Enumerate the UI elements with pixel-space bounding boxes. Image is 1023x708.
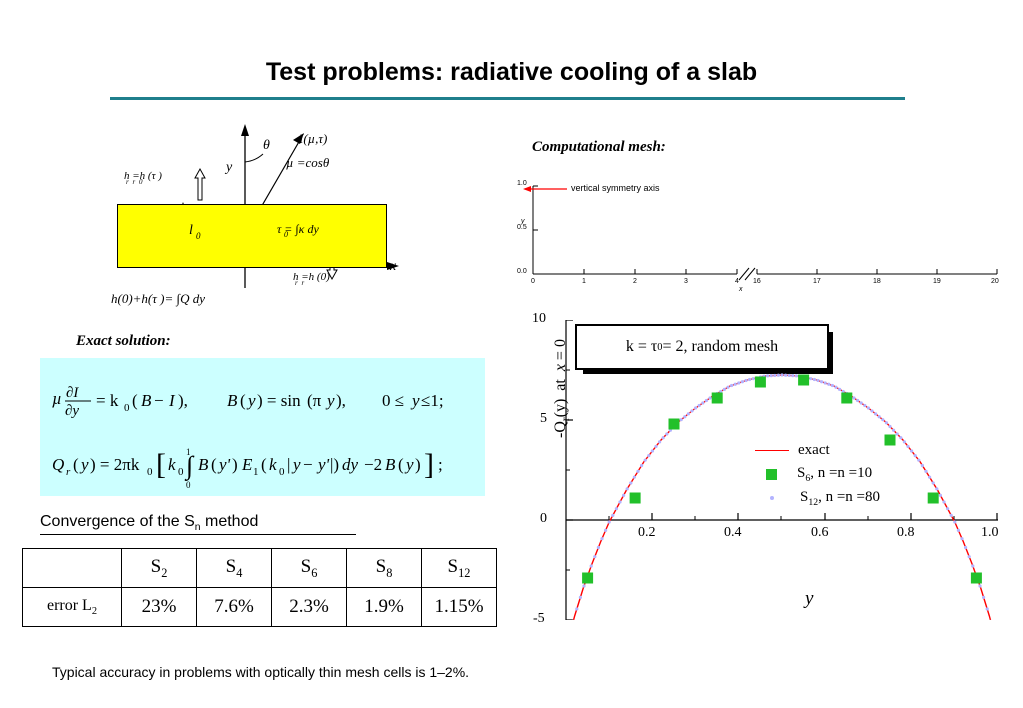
svg-text:),: ), [178,391,188,410]
svg-text:Q: Q [52,455,64,474]
mesh-xtick-7: 18 [873,278,881,285]
legend-dot-icon [770,496,774,500]
svg-text:): ) [232,455,238,474]
table-cell-error-s8: 1.9% [347,588,422,627]
legend-label-exact: exact [798,442,830,459]
table-cell-error-s2: 23% [122,588,197,627]
svg-text:|): |) [330,455,339,474]
convergence-table: S2 S4 S6 S8 S12 error L2 23% 7.6% 2.3% 1… [22,548,497,627]
svg-text:),: ), [336,391,346,410]
svg-text:y: y [404,455,414,474]
svg-text:−2: −2 [364,455,382,474]
bottom-note: Typical accuracy in problems with optica… [52,664,469,680]
chart-xtick-04: 0.4 [724,525,742,541]
col-sub-5: 12 [458,565,470,579]
svg-text:(: ( [132,391,138,410]
radiative-flux-chart: k = τ0 = 2, random mesh [505,308,1015,638]
chart-xtick-10: 1.0 [981,525,999,541]
mesh-xtick-3: 3 [684,278,688,285]
table-header-cell-s2: S2 [122,549,197,588]
convergence-heading-post: method [201,513,259,530]
title-underline-rule [110,97,905,100]
col-sub-3: 6 [311,565,317,579]
svg-text:y: y [325,391,335,410]
svg-text:k: k [168,455,176,474]
slab-bottom-equation: h(0)+h(τ )= ∫Q dy [111,291,205,307]
table-header-cell-s6: S6 [272,549,347,588]
svg-text:y: y [79,455,89,474]
legend-label-s6: S6, n =n =10 [797,465,872,484]
chart-x-axis-label: y [805,588,813,610]
exact-solution-title: Exact solution: [76,333,171,350]
chart-xtick-08: 0.8 [897,525,915,541]
svg-text:(: ( [261,455,267,474]
svg-text:−: − [154,391,164,410]
svg-text:0: 0 [124,402,130,414]
slab-body-rect [117,204,387,268]
svg-text:−: − [303,455,313,474]
svg-text:(: ( [398,455,404,474]
col-sub-4: 8 [386,565,392,579]
col-sub-2: 4 [236,565,242,579]
table-cell-error-s12: 1.15% [422,588,497,627]
equation-1-svg: µ ∂I ∂y = k 0 ( B − I ), B ( y ) = sin (… [52,378,452,418]
mesh-ytick-1: 0.5 [517,224,527,231]
chart-ytick-0: 0 [540,511,547,527]
svg-text:∂y: ∂y [65,403,79,418]
mesh-symmetry-axis-annotation: vertical symmetry axis [571,183,660,193]
svg-text:]: ] [424,448,434,481]
svg-text:y: y [291,455,301,474]
svg-text:I: I [168,391,176,410]
svg-text:0: 0 [178,466,184,478]
slab-mu-label: µ =cosθ [286,155,329,171]
chart-legend: exact S6, n =n =10 S12, n =n =80 [755,438,880,510]
slab-theta-label: θ [263,138,270,154]
convergence-heading-pre: Convergence of the S [40,513,195,530]
table-header-cell-s4: S4 [197,549,272,588]
mesh-ytick-0: 1.0 [517,180,527,187]
convergence-heading: Convergence of the Sn method [40,513,258,533]
chart-ytick-10: 10 [532,311,546,327]
mesh-xtick-1: 1 [582,278,586,285]
convergence-heading-underline [40,534,356,535]
table-header-cell-empty [23,549,122,588]
table-header-row: S2 S4 S6 S8 S12 [23,549,497,588]
row-label-sub: 2 [92,606,97,617]
legend-line-icon [755,450,789,451]
svg-text:1: 1 [253,466,259,478]
svg-text:(: ( [73,455,79,474]
svg-text:(π: (π [307,391,322,410]
table-cell-error-s6: 2.3% [272,588,347,627]
col-base-5: S [448,556,459,577]
svg-text:E: E [241,455,253,474]
table-header-cell-s12: S12 [422,549,497,588]
col-base-3: S [301,556,312,577]
col-base-4: S [376,556,387,577]
page-title: Test problems: radiative cooling of a sl… [0,58,1023,87]
computational-mesh-plot: 1.0 0.5 0.0 0 1 2 3 4 16 17 18 19 20 y x… [505,168,1005,298]
svg-text:|: | [287,455,290,474]
chart-ytick-neg5: -5 [533,611,545,627]
col-sub-1: 2 [161,565,167,579]
table-row-label: error L2 [23,588,122,627]
slab-x-axis-label: x [390,259,396,275]
svg-text:0: 0 [279,466,285,478]
svg-text:k: k [269,455,277,474]
legend-item-s6: S6, n =n =10 [755,462,880,486]
slab-h-top-subscript: r r 0 [126,178,143,186]
mesh-xtick-8: 19 [933,278,941,285]
slab-tau0-subscript: 0 [284,230,288,239]
svg-text:0: 0 [147,466,153,478]
row-label-base: error L [47,597,92,614]
chart-y-axis-label-sub: r [560,417,572,421]
mesh-xtick-6: 17 [813,278,821,285]
slab-diagram: θ y x I(µ,τ) µ =cosθ h =h (τ ) r r 0 l 0… [95,118,425,308]
slab-l0-subscript: 0 [196,231,201,241]
mesh-ytick-2: 0.0 [517,268,527,275]
mesh-title: Computational mesh: [532,139,666,156]
legend-item-exact: exact [755,438,880,462]
svg-text:B: B [198,455,209,474]
legend-s6-rest: , n =n =10 [810,465,872,481]
col-base-1: S [151,556,162,577]
legend-item-s12: S12, n =n =80 [755,486,880,510]
svg-text:∂I: ∂I [66,385,79,401]
chart-plot-area: -Qr(y) at x = 0 y 10 5 0 -5 0.2 0.4 0.6 … [560,320,998,620]
svg-text:y: y [246,391,256,410]
legend-label-s12: S12, n =n =80 [800,489,880,508]
equation-2-svg: Q r ( y ) = 2πk 0 [ k 0 ∫ 1 0 B ( y' ) E… [52,440,472,492]
svg-text:[: [ [156,448,166,481]
svg-text:B: B [385,455,396,474]
table-cell-error-s4: 7.6% [197,588,272,627]
svg-text:0: 0 [186,480,191,490]
mesh-y-axis-label: y [521,218,525,225]
svg-text:r: r [66,466,71,478]
svg-text:dy: dy [342,455,359,474]
chart-xtick-06: 0.6 [811,525,829,541]
svg-text:(: ( [211,455,217,474]
svg-text:): ) [415,455,421,474]
table-row: error L2 23% 7.6% 2.3% 1.9% 1.15% [23,588,497,627]
svg-text:) = 2πk: ) = 2πk [90,455,140,474]
mesh-xtick-0: 0 [531,278,535,285]
legend-s12-rest: , n =n =80 [818,489,880,505]
svg-text:B: B [227,391,238,410]
svg-text:;: ; [438,455,443,474]
svg-text:y: y [410,391,420,410]
chart-y-axis-label: -Qr(y) at x = 0 [552,339,572,438]
svg-text:(: ( [240,391,246,410]
svg-text:y': y' [316,455,330,474]
svg-text:B: B [141,391,152,410]
mesh-xtick-9: 20 [991,278,999,285]
mesh-xtick-4: 4 [735,278,739,285]
slab-l0-label: l [189,223,193,239]
chart-xtick-02: 0.2 [638,525,656,541]
svg-text:y': y' [217,455,231,474]
svg-text:= k: = k [96,391,119,410]
mesh-xtick-2: 2 [633,278,637,285]
svg-text:) = sin: ) = sin [257,391,301,410]
mesh-xtick-5: 16 [753,278,761,285]
col-base-2: S [226,556,237,577]
legend-s12-sub: 12 [808,497,818,508]
chart-ytick-5: 5 [540,411,547,427]
slab-y-axis-label: y [226,160,232,176]
svg-text:1: 1 [186,447,191,457]
legend-square-icon [766,469,777,480]
svg-text:0 ≤: 0 ≤ [382,391,404,410]
slab-intensity-label: I(µ,τ) [299,131,327,147]
mesh-x-axis-label: x [739,286,743,293]
table-header-cell-s8: S8 [347,549,422,588]
svg-text:µ: µ [52,389,62,408]
svg-text:≤1;: ≤1; [421,391,444,410]
exact-solution-equation-2: Q r ( y ) = 2πk 0 [ k 0 ∫ 1 0 B ( y' ) E… [52,440,472,497]
slab-h-bottom-subscript: r r [295,279,305,287]
exact-solution-equation-1: µ ∂I ∂y = k 0 ( B − I ), B ( y ) = sin (… [52,378,452,423]
